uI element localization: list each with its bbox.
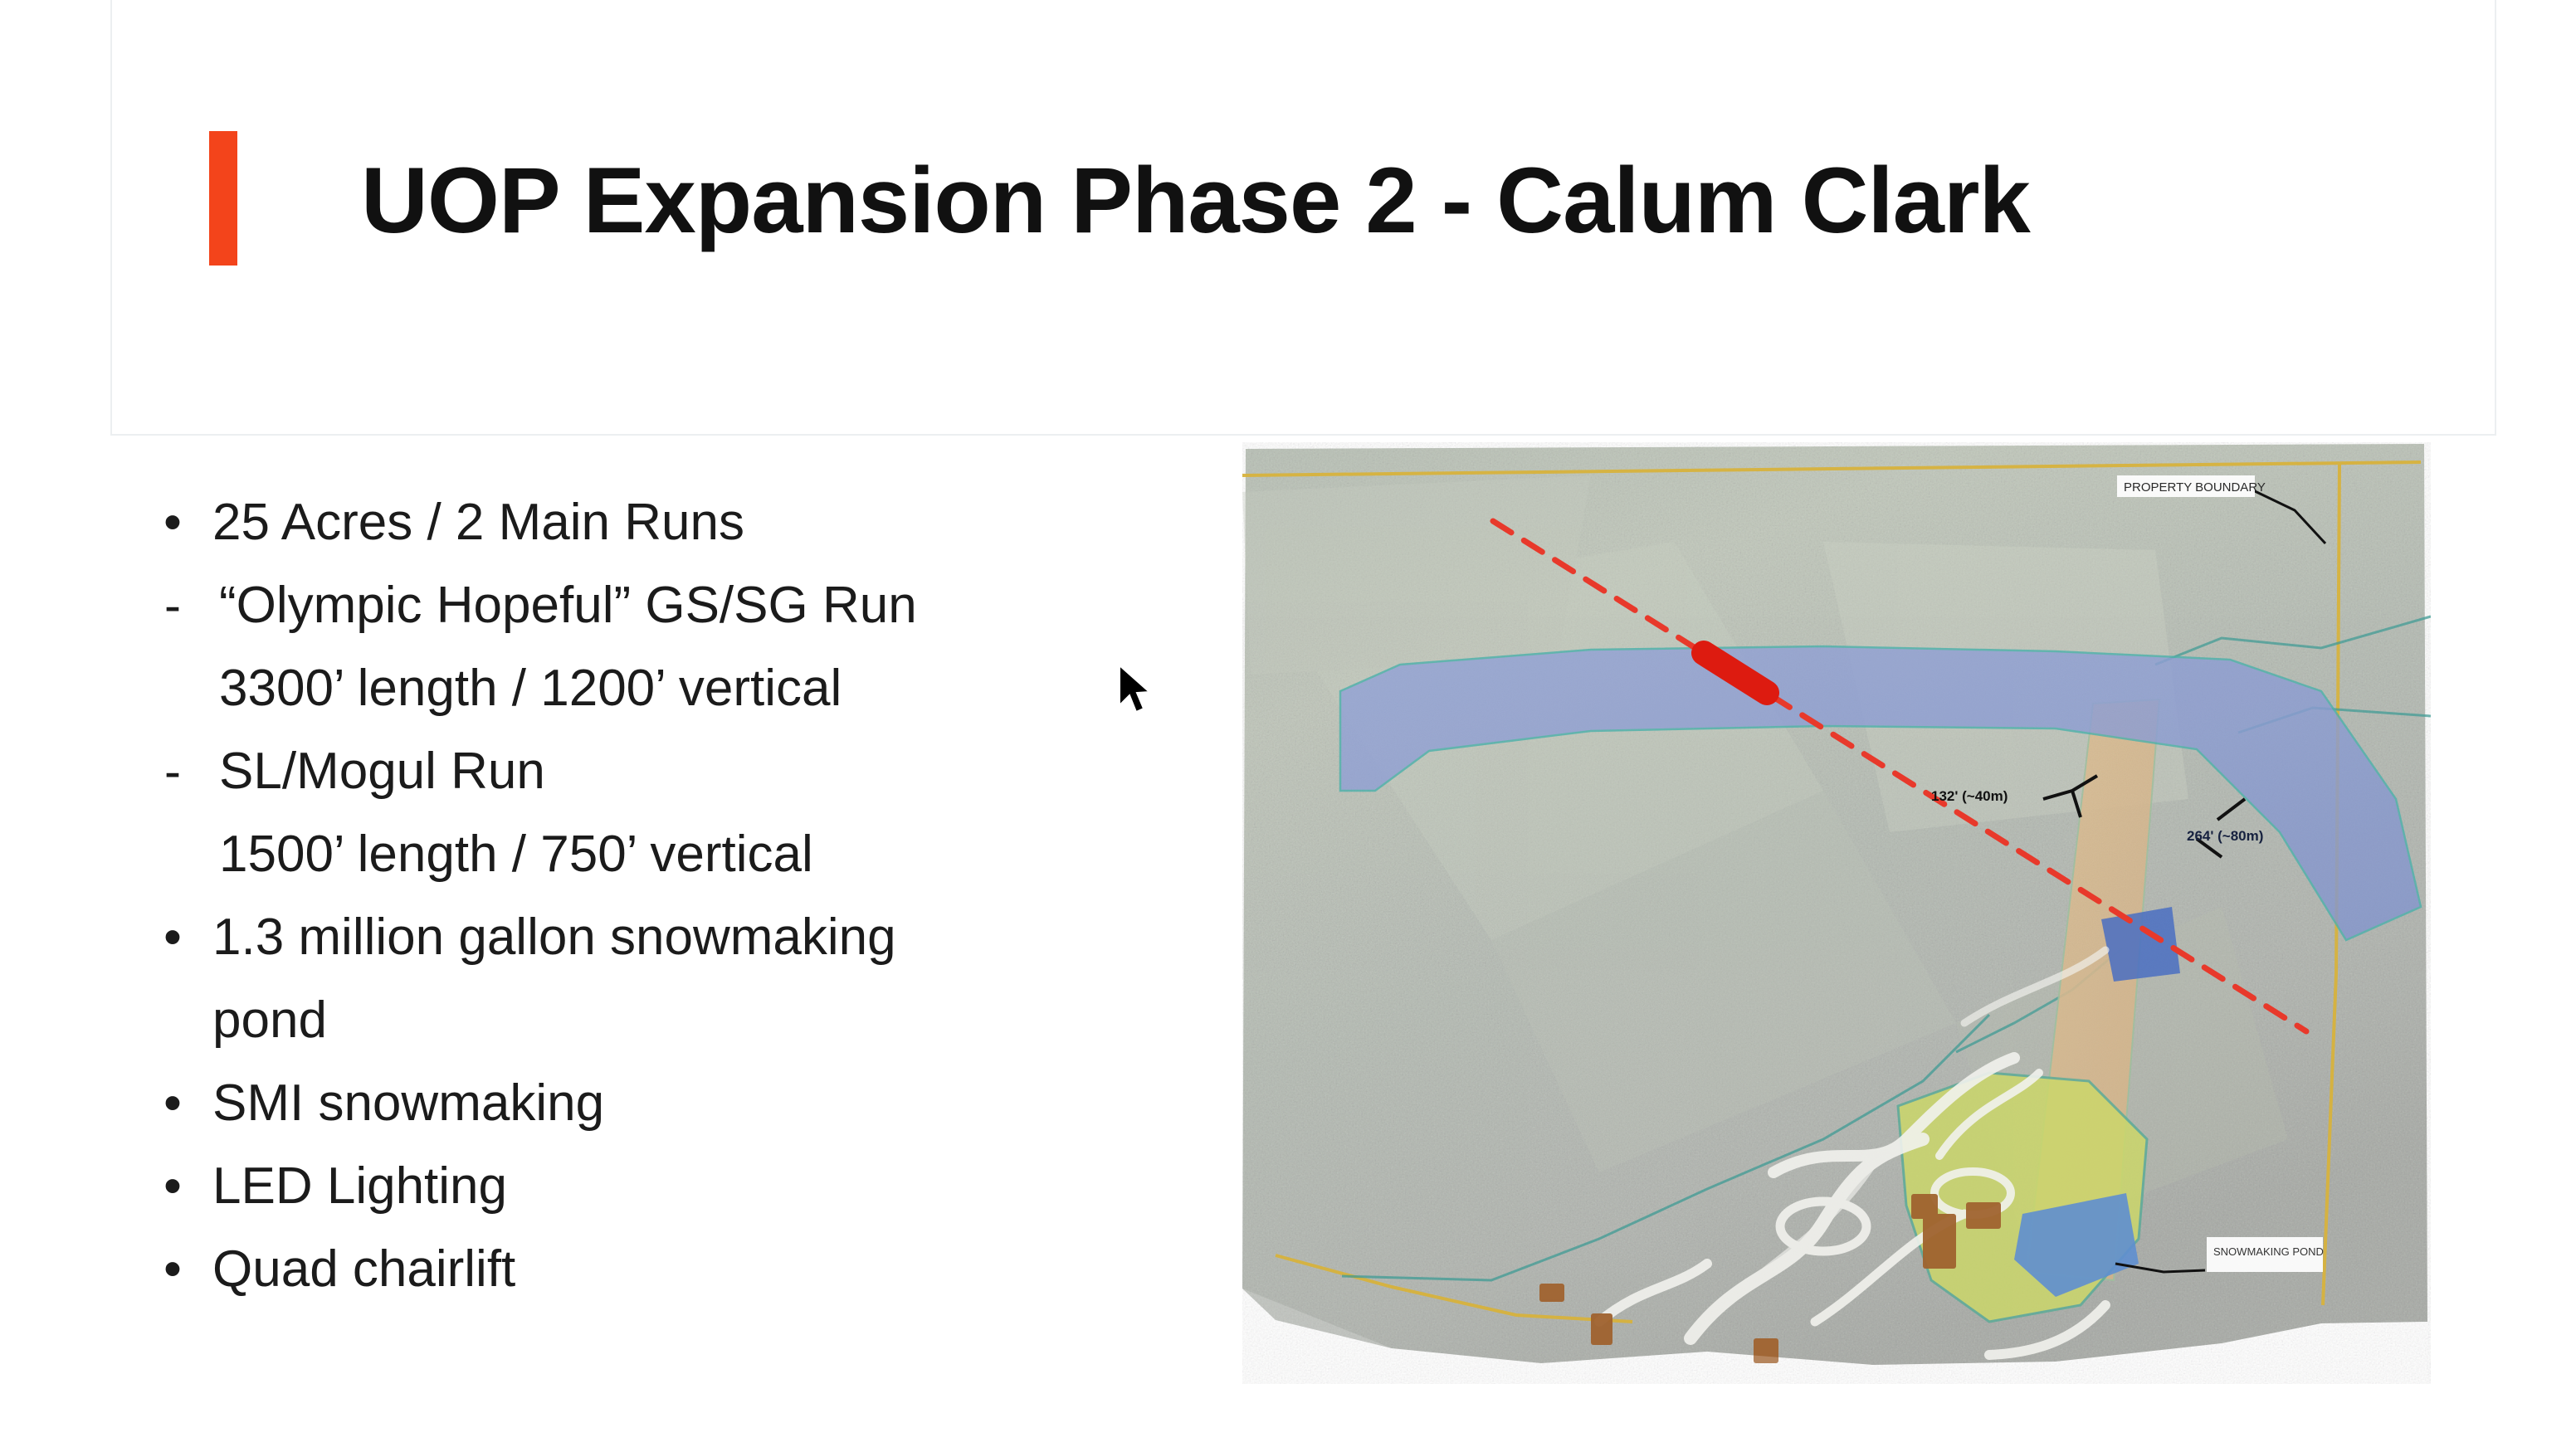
list-item: • LED Lighting bbox=[133, 1145, 1129, 1228]
main-run-inline-label bbox=[1690, 678, 1695, 695]
bullet-marker: • bbox=[133, 1228, 212, 1311]
title-accent-bar bbox=[209, 131, 237, 266]
list-item-label: 1500’ length / 750’ vertical bbox=[212, 813, 1129, 896]
mouse-pointer-icon bbox=[1116, 664, 1154, 715]
list-item-label: 25 Acres / 2 Main Runs bbox=[212, 481, 1129, 564]
list-item-label: 1.3 million gallon snowmaking bbox=[212, 896, 1129, 979]
bullet-marker: • bbox=[133, 1062, 212, 1145]
list-item-label: 3300’ length / 1200’ vertical bbox=[212, 647, 1129, 730]
list-item: • 25 Acres / 2 Main Runs bbox=[133, 481, 1129, 564]
list-item-label: SL/Mogul Run bbox=[212, 730, 1129, 813]
list-item: 1500’ length / 750’ vertical bbox=[133, 813, 1129, 896]
list-item: • 1.3 million gallon snowmaking bbox=[133, 896, 1129, 979]
site-plan-map: 132' (~40m) 264' (~80m) PROPERTY BOUNDAR… bbox=[1242, 442, 2431, 1384]
list-item-label: SMI snowmaking bbox=[212, 1062, 1129, 1145]
upper-pond-patch bbox=[2101, 907, 2180, 982]
list-item: - “Olympic Hopeful” GS/SG Run bbox=[133, 564, 1129, 647]
list-item-label: pond bbox=[212, 979, 1129, 1062]
list-item: • Quad chairlift bbox=[133, 1228, 1129, 1311]
list-item: pond bbox=[133, 979, 1129, 1062]
presentation-slide: UOP Expansion Phase 2 - Calum Clark • 25… bbox=[0, 0, 2576, 1452]
site-plan-svg: 132' (~40m) 264' (~80m) PROPERTY BOUNDAR… bbox=[1242, 442, 2431, 1384]
slide-title-card: UOP Expansion Phase 2 - Calum Clark bbox=[110, 0, 2496, 436]
bullet-marker: • bbox=[133, 896, 212, 979]
list-item-label: LED Lighting bbox=[212, 1145, 1129, 1228]
main-run-width-label: 132' (~40m) bbox=[1931, 788, 2008, 804]
list-item: • SMI snowmaking bbox=[133, 1062, 1129, 1145]
property-boundary-label: PROPERTY BOUNDARY bbox=[2124, 480, 2266, 495]
bullet-marker: - bbox=[133, 564, 212, 647]
list-item-label: “Olympic Hopeful” GS/SG Run bbox=[212, 564, 1129, 647]
list-item: - SL/Mogul Run bbox=[133, 730, 1129, 813]
pond-callout-label: SNOWMAKING POND bbox=[2213, 1245, 2324, 1258]
list-item-label: Quad chairlift bbox=[212, 1228, 1129, 1311]
secondary-run-width-label: 264' (~80m) bbox=[2187, 828, 2263, 844]
list-item: 3300’ length / 1200’ vertical bbox=[133, 647, 1129, 730]
bullet-marker: • bbox=[133, 1145, 212, 1228]
page-title: UOP Expansion Phase 2 - Calum Clark bbox=[361, 134, 2486, 267]
bullet-marker: • bbox=[133, 481, 212, 564]
bullet-marker: - bbox=[133, 730, 212, 813]
bullet-list: • 25 Acres / 2 Main Runs - “Olympic Hope… bbox=[133, 481, 1129, 1311]
